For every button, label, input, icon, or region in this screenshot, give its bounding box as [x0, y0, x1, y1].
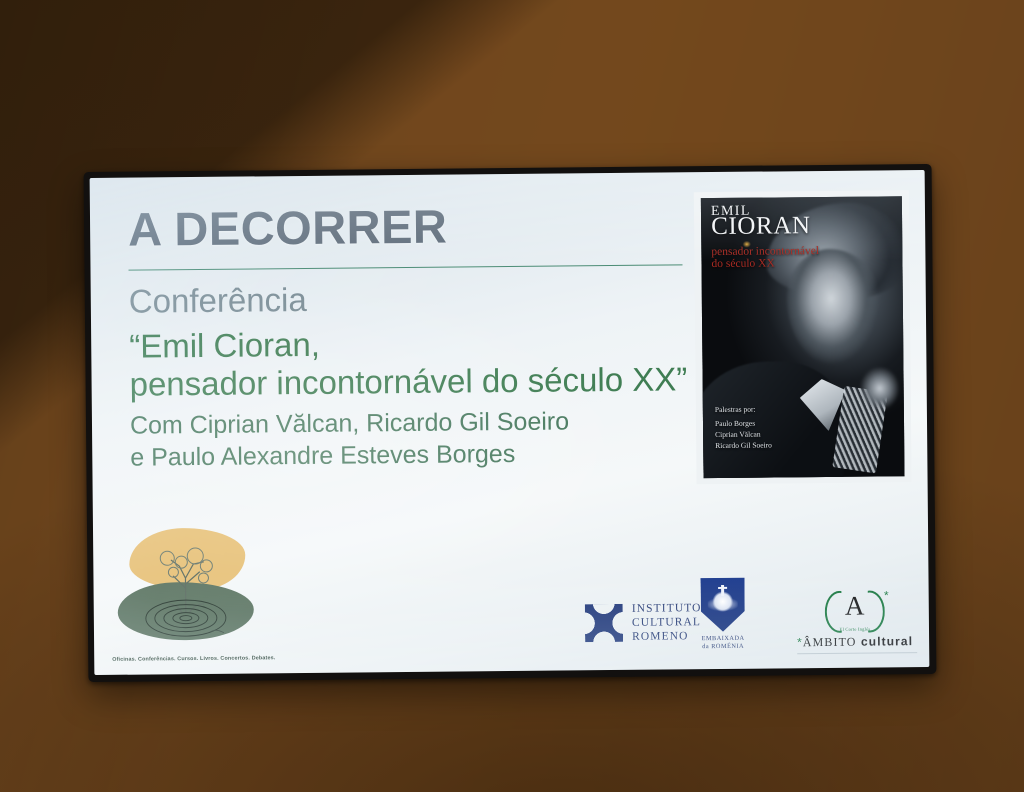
ambito-symbol-icon: A * — [823, 590, 887, 631]
poster-hand-shape — [859, 366, 899, 410]
poster-speaker-2: Ciprian Vălcan — [715, 430, 772, 441]
poster-speakers: Palestras por: Paulo Borges Ciprian Vălc… — [715, 404, 772, 452]
tree-in-water-icon — [111, 525, 262, 652]
embassy-wordmark: EMBAIXADA da ROMÉNIA — [702, 634, 745, 651]
poster-subtitle-line1: pensador incontornável — [711, 245, 819, 258]
heading-divider — [129, 264, 683, 270]
poster-speaker-1: Paulo Borges — [715, 419, 772, 430]
icr-line1: INSTITUTO — [632, 601, 702, 616]
icr-cross-icon — [585, 604, 623, 642]
display-screen: A DECORRER Conferência “Emil Cioran, pen… — [90, 170, 930, 675]
emblem-caption: Oficinas. Conferências. Cursos. Livros. … — [112, 655, 272, 663]
poster-speakers-label: Palestras por: — [715, 404, 772, 415]
logo-instituto-cultural-romeno: INSTITUTO CULTURAL ROMENO — [585, 601, 702, 644]
ambito-word-light: ÂMBITO — [803, 635, 857, 650]
poster-subtitle-line2: do século XX — [711, 257, 819, 270]
poster-subtitle: pensador incontornável do século XX — [711, 245, 819, 270]
poster-title: EMIL CIORAN — [711, 205, 811, 238]
slide-subheading: Conferência — [129, 279, 699, 319]
ambito-letter-a: A — [823, 592, 887, 620]
embassy-line1: EMBAIXADA — [702, 634, 745, 643]
ambito-wordmark: *ÂMBITO cultural — [797, 634, 913, 650]
ambito-star-icon: * — [884, 589, 889, 601]
slide-heading: A DECORRER — [128, 200, 698, 253]
wall-mounted-display: A DECORRER Conferência “Emil Cioran, pen… — [84, 164, 937, 682]
icr-line3: ROMENO — [632, 629, 702, 644]
emblem-tree-drawing — [111, 525, 262, 652]
slide-text-column: A DECORRER Conferência “Emil Cioran, pen… — [128, 200, 701, 474]
sponsor-logos: INSTITUTO CULTURAL ROMENO EMBAIXADA da R… — [585, 577, 916, 662]
speakers-line1: Com Ciprian Vălcan, Ricardo Gil Soeiro — [130, 408, 569, 440]
organizer-emblem: Oficinas. Conferências. Cursos. Livros. … — [111, 525, 272, 663]
ambito-word-bold: cultural — [861, 634, 913, 649]
ambito-underline — [797, 652, 917, 654]
speakers-line2: e Paulo Alexandre Esteves Borges — [130, 436, 700, 473]
icr-wordmark: INSTITUTO CULTURAL ROMENO — [632, 601, 702, 644]
presentation-slide: A DECORRER Conferência “Emil Cioran, pen… — [90, 170, 930, 675]
conference-poster: EMIL CIORAN pensador incontornável do sé… — [694, 190, 912, 484]
poster-portrait-photo: EMIL CIORAN pensador incontornável do sé… — [701, 196, 905, 478]
poster-title-line2: CIORAN — [711, 215, 811, 238]
conference-speakers: Com Ciprian Vălcan, Ricardo Gil Soeiro e… — [130, 404, 701, 473]
conference-title: “Emil Cioran, pensador incontornável do … — [129, 322, 700, 404]
conference-title-line2: pensador incontornável do século XX” — [129, 360, 699, 404]
eagle-icon — [708, 587, 738, 621]
embassy-line2: da ROMÉNIA — [702, 643, 745, 652]
conference-title-line1: “Emil Cioran, — [129, 325, 320, 364]
romania-coat-of-arms-icon — [700, 577, 745, 631]
logo-ambito-cultural: A * El Corte Inglés *ÂMBITO cultural — [797, 590, 914, 650]
poster-speaker-3: Ricardo Gil Soeiro — [715, 441, 772, 452]
icr-line2: CULTURAL — [632, 615, 702, 630]
logo-embaixada-da-romenia: EMBAIXADA da ROMÉNIA — [700, 577, 745, 651]
